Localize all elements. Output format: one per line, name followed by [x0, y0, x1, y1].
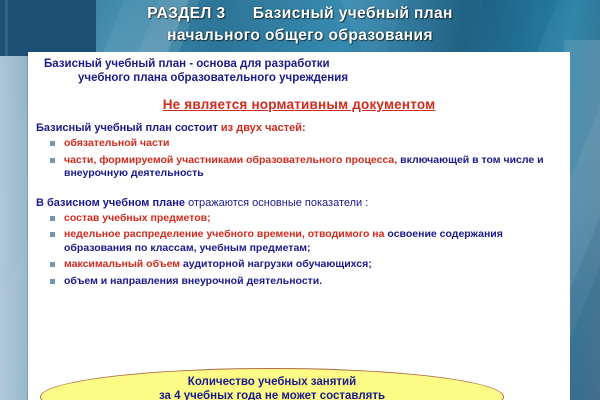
list-item: состав учебных предметов; [50, 212, 564, 226]
list-item-red-text: недельное распределение учебного времени… [64, 228, 385, 240]
header-section-number: РАЗДЕЛ 3 [147, 5, 225, 22]
banner-line-2: учебного плана образовательного учрежден… [38, 71, 560, 85]
bullet-square-icon [50, 216, 55, 221]
bullet-square-icon [50, 232, 55, 237]
section-1-lead-blue: Базисный учебный план состоит [36, 122, 221, 134]
header-title-line-1: РАЗДЕЛ 3 Базисный учебный план [0, 0, 600, 23]
bullet-square-icon [50, 141, 55, 146]
section-2-lead: В базисном учебном плане отражаются осно… [28, 196, 570, 210]
section-2-bullet-list: состав учебных предметов; недельное расп… [28, 212, 570, 289]
list-item: части, формируемой участниками образоват… [50, 154, 564, 181]
section-divider-gap [28, 187, 570, 196]
red-underlined-heading: Не является нормативным документом [28, 97, 570, 112]
section-1-bullet-list: обязательной части части, формируемой уч… [28, 137, 570, 181]
list-item: максимальный объем аудиторной нагрузки о… [50, 258, 564, 272]
list-item: недельное распределение учебного времени… [50, 228, 564, 255]
list-item-red-text: обязательной части [64, 137, 169, 149]
section-1-lead-red: из двух частей: [221, 122, 306, 134]
bullet-square-icon [50, 158, 55, 163]
list-item-blue-text: аудиторной нагрузки обучающихся; [183, 258, 372, 270]
header-title-main: Базисный учебный план [253, 5, 453, 22]
list-item-red-text: части, формируемой участниками образоват… [64, 154, 397, 166]
banner-callout: Базисный учебный план - основа для разра… [28, 52, 570, 89]
section-2-lead-bold: В базисном учебном плане [36, 197, 188, 209]
list-item-blue-text: объем и направления внеурочной деятельно… [64, 275, 322, 287]
bullet-square-icon [50, 279, 55, 284]
list-item: объем и направления внеурочной деятельно… [50, 275, 564, 289]
slide-header: РАЗДЕЛ 3 Базисный учебный план начальног… [0, 0, 600, 52]
section-2-lead-rest: отражаются основные показатели : [188, 197, 368, 209]
header-title-line-2: начального общего образования [0, 23, 600, 45]
bullet-square-icon [50, 262, 55, 267]
list-item: обязательной части [50, 137, 564, 151]
slide-canvas: РАЗДЕЛ 3 Базисный учебный план начальног… [0, 0, 600, 400]
list-item-red-text: максимальный объем [64, 258, 183, 270]
content-panel: Базисный учебный план - основа для разра… [28, 52, 570, 400]
callout-line-2: за 4 учебных года не может составлять [41, 389, 503, 400]
banner-line-1: Базисный учебный план - основа для разра… [38, 57, 560, 71]
list-item-red-text: состав учебных предметов; [64, 212, 211, 224]
section-1-lead: Базисный учебный план состоит из двух ча… [28, 121, 570, 135]
